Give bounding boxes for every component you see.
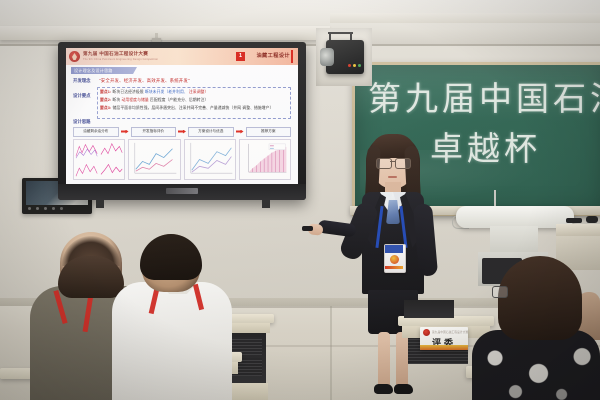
idea-label: 开发理念 [73,78,91,84]
name-card: 第九届中国石油工程设计大赛 评委 [420,327,468,350]
flow-step: 方案设计与优选 [188,127,234,137]
glasses-icon [376,158,392,169]
floor-tile-line [330,306,332,400]
display-mount [96,200,104,208]
slide-chart-row [73,139,291,180]
id-badge-header [385,245,403,253]
chart-thumbnail-scheme-compare [184,139,236,180]
point-text-alt: 断块未开发（老井利用、 [145,90,188,94]
mini-chart [100,141,124,159]
monitor-button[interactable] [52,207,55,210]
presenter-shoe-left [374,384,393,394]
led-red [348,64,351,67]
monitor-button[interactable] [60,207,63,210]
point-highlight: 动用程度与储量 [121,98,148,102]
monitor-button[interactable] [28,207,31,210]
slide-section-label: 油藏工程设计 [256,52,290,59]
presenter-leg-right [396,332,408,388]
design-point-row: 要点3: 储层平面非均质性强，层间矛盾突出、注采井网不完善、产量递减快（井网 调… [100,106,273,112]
chart-thumbnail-cumulative [239,139,291,180]
badge-seal-icon [390,255,399,264]
point-text: 储层平面非均质性强，层间矛盾突出、注采井网不完善、产量递减快（井网 [113,106,242,110]
design-flow-diagram: 油藏剩余油分布 开发指标评价 方案设计与优选 推荐方案 [73,127,291,136]
slide-section-number: 1 [236,52,245,61]
slide-title-chinese: 第九届 中国石油工程设计大赛 [83,51,148,57]
floral-pattern-top [472,330,600,400]
display-screen[interactable]: 第九届 中国石油工程设计大赛 The 9th China Petroleum E… [66,48,298,184]
projector-status-leds [348,64,361,67]
glasses-icon [395,158,411,169]
design-point-row: 要点1: 断块已达经济极限 断块未开发（老井利用、 注采调整） [100,90,208,95]
side-counter-top [556,224,600,236]
point-key: 要点3: [100,106,111,110]
ceiling-beam [0,26,330,40]
glasses-icon [492,286,508,298]
podium-column [490,226,538,254]
card-header-text: 第九届中国石油工程设计大赛 [432,330,468,334]
blackboard-text-line1: 第九届中国石油 [368,72,600,120]
flow-step: 开发指标评价 [131,127,177,137]
counter-equipment [586,216,598,223]
wall-monitor-buttons[interactable] [28,207,63,210]
mini-chart [75,160,99,178]
presenter-mouth [388,176,397,178]
slide-subheader-text: 设计理念及设计思路 [74,68,113,74]
presenter-shoe-right [394,384,413,394]
ceiling-beam-right [330,13,600,23]
chart-thumbnail-residual-oil [73,139,125,180]
display-mount [262,200,270,208]
presentation-slide: 第九届 中国石油工程设计大赛 The 9th China Petroleum E… [66,48,298,184]
display-brand-logo [166,188,198,194]
presenter-leg-left [378,332,390,388]
design-point-row: 要点2: 断块 动用程度与储量 匹配程度（产能充分、后期转注） [100,98,208,103]
flow-step: 推荐方案 [246,127,292,137]
presenter-remote-icon[interactable] [302,226,313,231]
projector-lens-icon [320,48,334,66]
slide-title-english: The 9th China Petroleum Engineering Desi… [83,58,158,61]
design-flow-label: 设计思路 [73,119,91,125]
flow-step: 油藏剩余油分布 [73,127,119,137]
arrow-right-icon [121,130,129,134]
design-points-label: 设计要点 [73,93,91,99]
chart-thumbnail-indicators [128,139,180,180]
chart-mini-grid [75,141,123,178]
point-text-alt: 匹配程度（产能充分、后期转注） [150,98,208,102]
mini-chart [75,141,99,159]
counter-equipment [566,218,582,223]
point-text: 断块已达经济极限 [113,90,144,94]
slide-section-accent-bar [291,50,293,63]
blackboard-text-line2: 卓越杯 [430,122,541,170]
audience-member-hair [58,256,124,298]
monitor-button[interactable] [44,207,47,210]
desk-back-cavity [404,300,454,318]
monitor-button[interactable] [36,207,39,210]
mini-chart [100,160,124,178]
audience-member-hair [498,256,582,340]
audience-member-body [112,282,232,400]
arrow-right-icon [178,130,186,134]
card-accent-bar [420,345,468,350]
point-highlight: 注采调整） [189,90,208,94]
point-text-alt: 调整、措施增产） [242,106,273,110]
arrow-right-icon [236,130,244,134]
point-key: 要点1: [100,90,111,94]
led-green [358,64,361,67]
idea-value: "安全开发、经济开发、高效开发、系统开发" [99,78,190,84]
led-amber [353,64,356,67]
classroom-presentation-scene: 第九届中国石油 卓越杯 第九届 中国石油工程设计大赛 The 9th China… [0,0,600,400]
glasses-bridge [390,161,395,162]
badge-footer-bar [385,266,403,269]
point-text: 断块 [113,98,121,102]
point-key: 要点2: [100,98,111,102]
